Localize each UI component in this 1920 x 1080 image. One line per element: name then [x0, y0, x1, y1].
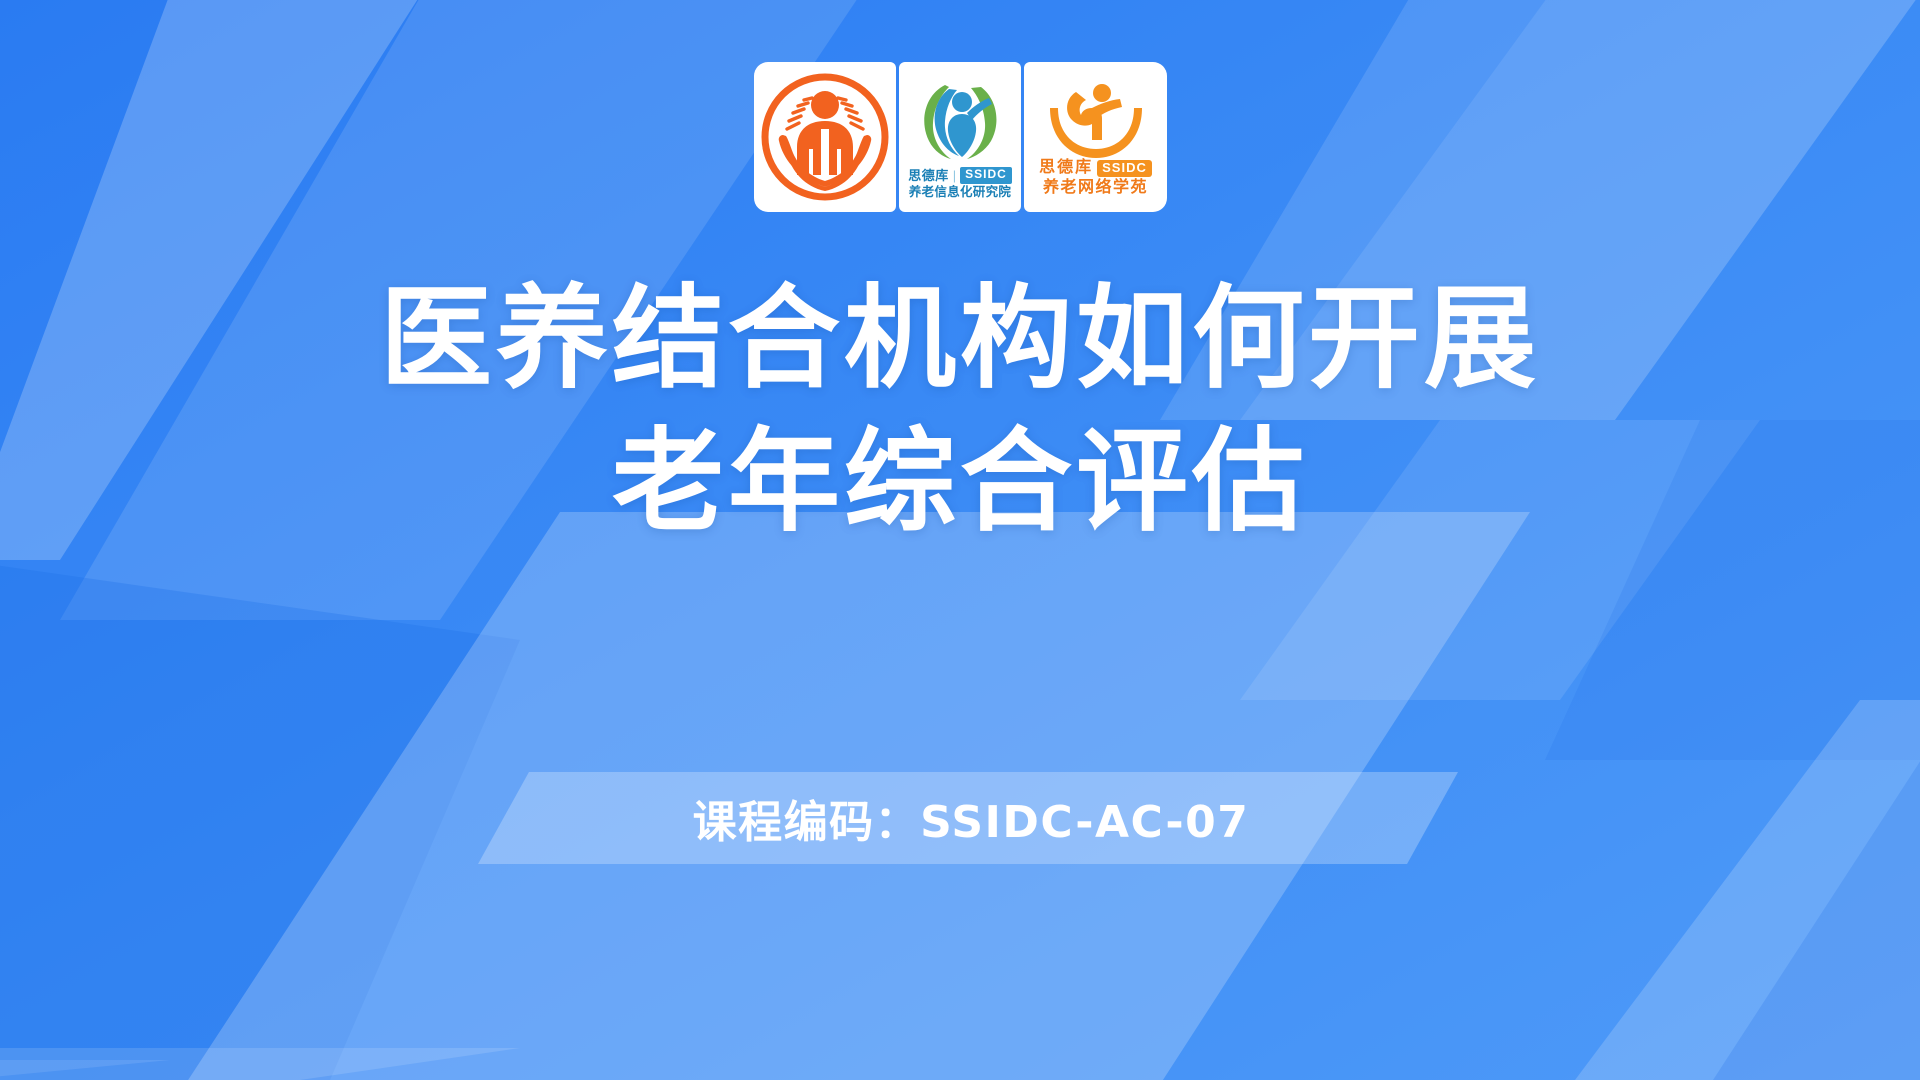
logo2-brand-text: 思德库	[908, 169, 949, 183]
logo2-caption: 思德库 | SSIDC 养老信息化研究院	[908, 167, 1012, 198]
title-line-2: 老年综合评估	[0, 411, 1920, 554]
logo2-badge-text: SSIDC	[960, 167, 1012, 183]
logo2-subtitle-text: 养老信息化研究院	[909, 186, 1011, 199]
deco-wedge-left-dark	[0, 560, 520, 1080]
title-slide: 思德库 | SSIDC 养老信息化研究院 思德库 SSIDC 养老网络学苑	[0, 0, 1920, 1080]
logo-strip: 思德库 | SSIDC 养老信息化研究院 思德库 SSIDC 养老网络学苑	[754, 62, 1167, 212]
course-code-text: 课程编码：SSIDC-AC-07	[478, 772, 1458, 864]
deco-sliver-bottom-left	[0, 1060, 170, 1080]
deco-stripe-lower-right-b	[1700, 700, 1920, 1080]
course-code-band: 课程编码：SSIDC-AC-07	[478, 772, 1458, 864]
logo3-caption: 思德库 SSIDC 养老网络学苑	[1039, 160, 1152, 197]
page-title: 医养结合机构如何开展 老年综合评估	[0, 268, 1920, 555]
logo3-subtitle-text: 养老网络学苑	[1043, 180, 1148, 197]
logo-panel-ssidc-research-institute: 思德库 | SSIDC 养老信息化研究院	[899, 62, 1021, 212]
title-line-1: 医养结合机构如何开展	[0, 268, 1920, 411]
logo3-brand-text: 思德库	[1039, 160, 1093, 177]
deco-band-bottom-left	[0, 1048, 520, 1080]
logo2-divider: |	[953, 169, 956, 183]
figure-in-circle-icon	[915, 77, 1005, 165]
logo-panel-ssidc-online-academy: 思德库 SSIDC 养老网络学苑	[1024, 62, 1167, 212]
logo3-badge-text: SSIDC	[1097, 160, 1152, 177]
person-in-hands-circle-icon	[759, 71, 891, 203]
deco-stripe-lower-right-a	[1560, 700, 1920, 1080]
logo-panel-elderly-care-emblem	[754, 62, 896, 212]
figure-over-crescent-icon	[1040, 78, 1152, 158]
